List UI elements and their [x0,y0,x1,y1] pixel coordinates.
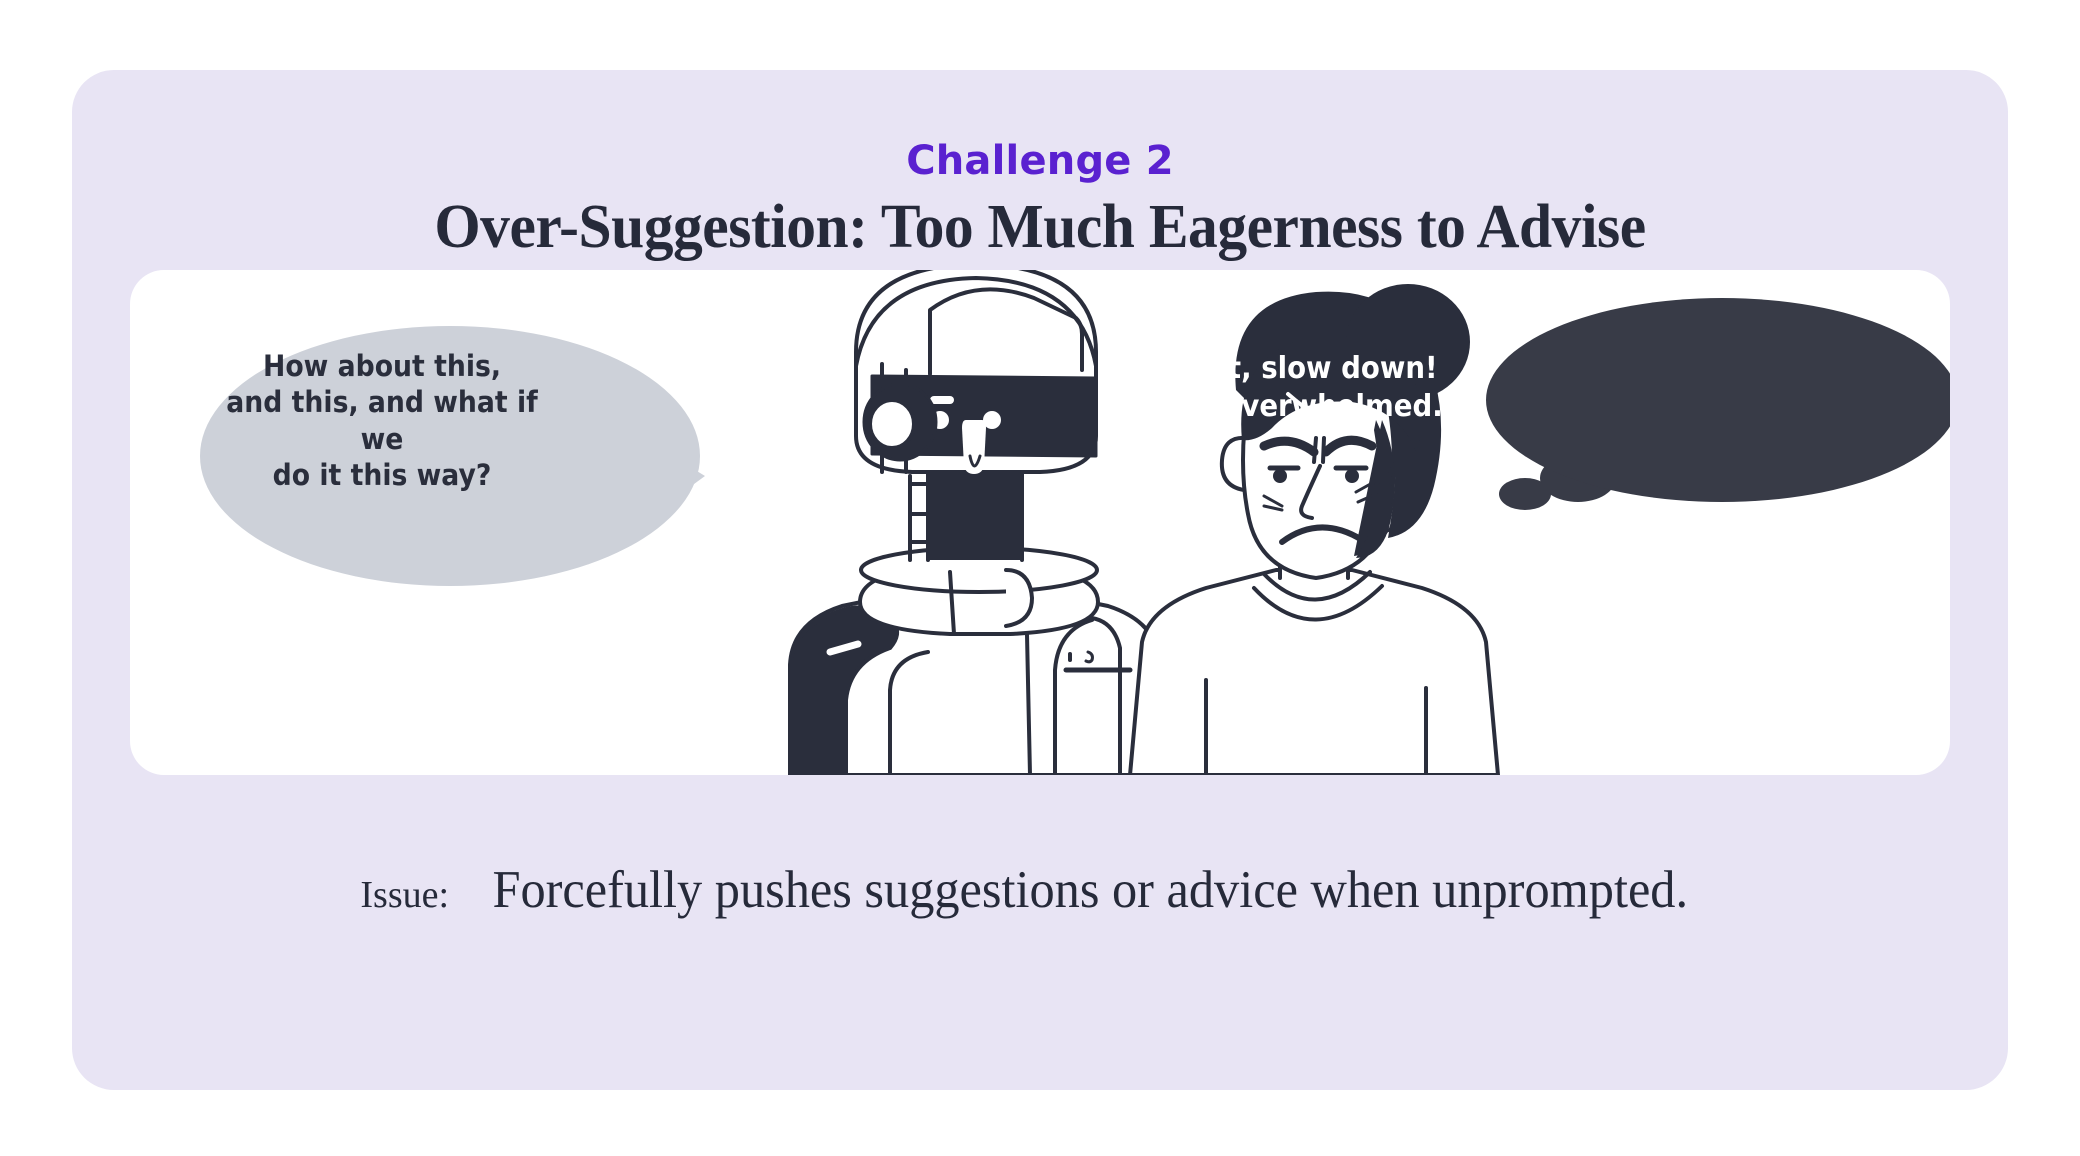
thought-bubble-shape [1486,298,1950,510]
speech-bubble-shape [200,326,705,586]
issue-description: Forcefully pushes suggestions or advice … [493,860,1689,920]
issue-statement: Issue:Forcefully pushes suggestions or a… [72,860,2008,920]
scene-illustration [130,270,1950,775]
robot-figure [790,270,1160,775]
slide-canvas: Challenge 2 Over-Suggestion: Too Much Ea… [0,0,2080,1156]
content-panel: Challenge 2 Over-Suggestion: Too Much Ea… [72,70,2008,1090]
issue-label: Issue: [360,874,449,916]
page-title: Over-Suggestion: Too Much Eagerness to A… [111,192,1970,263]
challenge-label: Challenge 2 [72,138,2008,184]
illustration-card: How about this, and this, and what if we… [130,270,1950,775]
woman-figure [1130,284,1498,775]
